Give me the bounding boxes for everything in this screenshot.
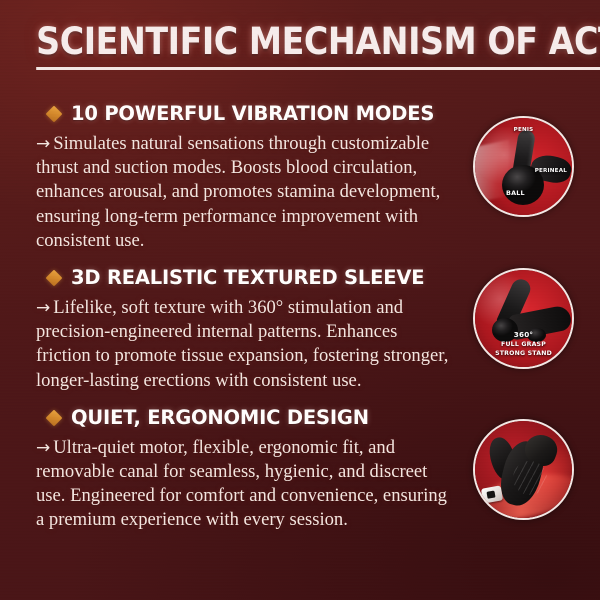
product-photo-device-scene <box>475 421 572 518</box>
feature-section-2: 3D REALISTIC TEXTURED SLEEVE →Lifelike, … <box>36 267 454 393</box>
product-photo-grip: 360° FULL GRASP STRONG STAND <box>473 268 574 369</box>
feature-section-list: 10 POWERFUL VIBRATION MODES →Simulates n… <box>36 103 454 533</box>
page-title-container: SCIENTIFIC MECHANISM OF ACTION <box>0 22 600 70</box>
diamond-bullet-icon <box>46 409 63 426</box>
feature-body-3: →Ultra-quiet motor, flexible, ergonomic … <box>36 436 454 533</box>
photo-caption-degrees: 360° <box>475 331 572 339</box>
feature-body-2: →Lifelike, soft texture with 360° stimul… <box>36 296 454 393</box>
feature-heading-2: 3D REALISTIC TEXTURED SLEEVE <box>71 267 424 289</box>
feature-body-1: →Simulates natural sensations through cu… <box>36 132 454 253</box>
feature-section-3: QUIET, ERGONOMIC DESIGN →Ultra-quiet mot… <box>36 407 454 533</box>
feature-body-text-3: Ultra-quiet motor, flexible, ergonomic f… <box>36 437 447 531</box>
feature-section-1: 10 POWERFUL VIBRATION MODES →Simulates n… <box>36 103 454 253</box>
feature-heading-row-2: 3D REALISTIC TEXTURED SLEEVE <box>48 267 454 289</box>
arrow-icon: → <box>36 298 53 318</box>
feature-body-text-1: Simulates natural sensations through cus… <box>36 133 440 251</box>
product-shape-texture <box>513 461 547 495</box>
photo-caption-line2: STRONG STAND <box>475 350 572 357</box>
feature-heading-3: QUIET, ERGONOMIC DESIGN <box>71 407 369 429</box>
feature-heading-row-3: QUIET, ERGONOMIC DESIGN <box>48 407 454 429</box>
page-title: SCIENTIFIC MECHANISM OF ACTION <box>36 22 600 70</box>
poster-root: SCIENTIFIC MECHANISM OF ACTION 10 POWERF… <box>0 0 600 600</box>
photo-caption-bottom: BALL <box>475 190 572 198</box>
product-photo-device <box>473 419 574 520</box>
photo-caption-right: PERINEAL <box>475 168 572 175</box>
diamond-bullet-icon <box>46 106 63 123</box>
arrow-icon: → <box>36 438 53 458</box>
arrow-icon: → <box>36 134 53 154</box>
product-photo-anatomy: PENIS PERINEAL BALL <box>473 116 574 217</box>
feature-body-text-2: Lifelike, soft texture with 360° stimula… <box>36 297 448 391</box>
diamond-bullet-icon <box>46 270 63 287</box>
photo-caption-top: PENIS <box>475 127 572 134</box>
feature-heading-row-1: 10 POWERFUL VIBRATION MODES <box>48 103 454 125</box>
photo-caption-line1: FULL GRASP <box>475 341 572 348</box>
feature-heading-1: 10 POWERFUL VIBRATION MODES <box>71 103 434 125</box>
